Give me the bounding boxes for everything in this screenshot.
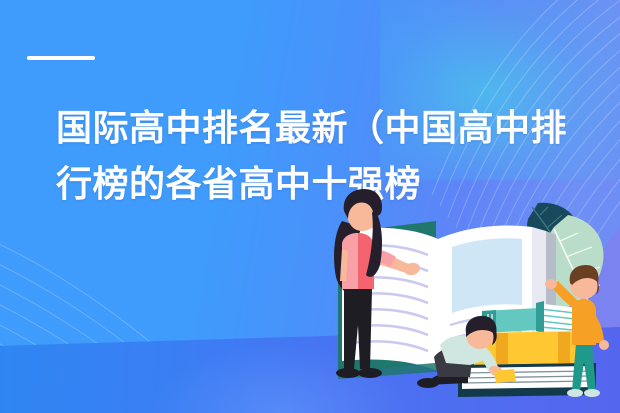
accent-rule [27,56,95,60]
education-illustration [300,185,620,413]
banner-card: 国际高中排名最新（中国高中排行榜的各省高中十强榜 [0,0,620,413]
